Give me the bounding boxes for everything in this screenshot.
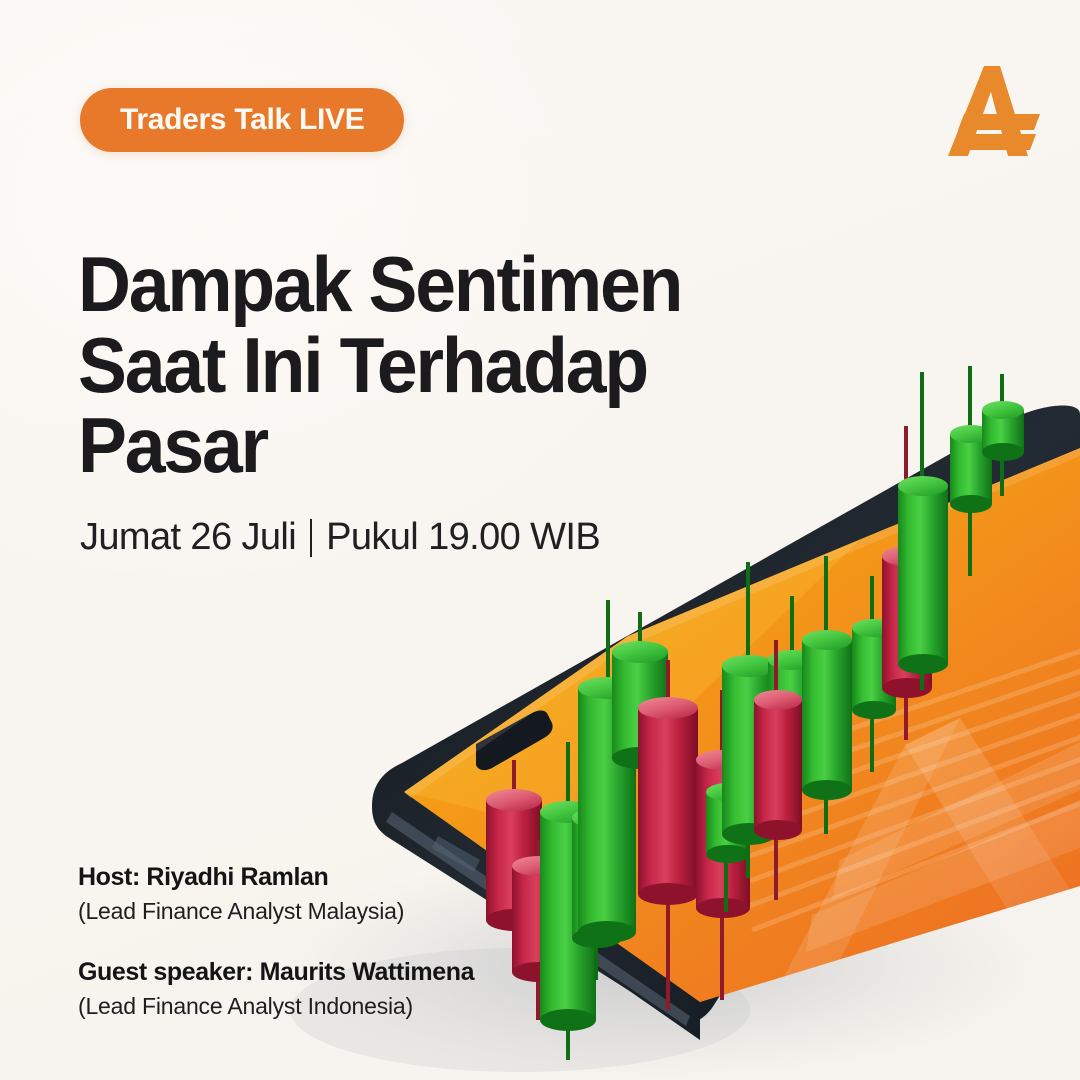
- credit-guest-name: Guest speaker: Maurits Wattimena: [78, 957, 598, 988]
- live-badge-label: Traders Talk LIVE: [120, 103, 364, 137]
- page-title: Dampak Sentimen Saat Ini Terhadap Pasar: [78, 244, 808, 485]
- brand-a-logo: [932, 58, 1052, 162]
- schedule-line: Jumat 26 Juli Pukul 19.00 WIB: [80, 516, 600, 559]
- schedule-time: Pukul 19.00 WIB: [326, 516, 600, 559]
- headline-line-3: Pasar: [78, 405, 764, 485]
- credit-guest-role: (Lead Finance Analyst Indonesia): [78, 992, 598, 1022]
- credit-guest: Guest speaker: Maurits Wattimena (Lead F…: [78, 957, 598, 1022]
- credits-block: Host: Riyadhi Ramlan (Lead Finance Analy…: [78, 862, 598, 1022]
- credit-host-role: (Lead Finance Analyst Malaysia): [78, 897, 598, 927]
- promo-poster: Traders Talk LIVE Dampak Sentimen Saat I…: [0, 0, 1080, 1080]
- credit-host: Host: Riyadhi Ramlan (Lead Finance Analy…: [78, 862, 598, 927]
- schedule-separator: [310, 519, 312, 557]
- schedule-date: Jumat 26 Juli: [80, 516, 296, 559]
- live-badge[interactable]: Traders Talk LIVE: [80, 88, 404, 152]
- headline-line-1: Dampak Sentimen: [78, 244, 764, 324]
- headline-line-2: Saat Ini Terhadap: [78, 325, 764, 405]
- credit-host-name: Host: Riyadhi Ramlan: [78, 862, 598, 893]
